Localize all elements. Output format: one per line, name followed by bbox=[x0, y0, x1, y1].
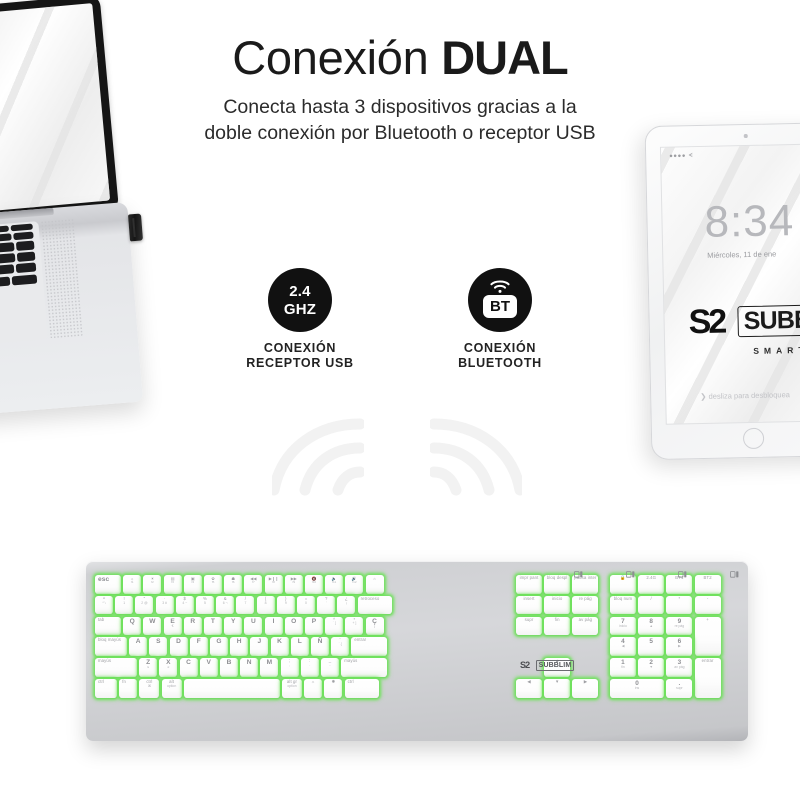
led-indicator-2 bbox=[626, 565, 635, 572]
laptop-screen-logo: LIM IGNS bbox=[0, 107, 14, 161]
badge-bt-caption-line1: CONEXIÓN bbox=[420, 341, 580, 356]
numpad-key[interactable]: 3av pág bbox=[666, 658, 692, 677]
keyboard-key[interactable]: Ç} bbox=[366, 617, 384, 636]
keyboard-key[interactable]: retroceso bbox=[358, 596, 392, 615]
laptop-key[interactable] bbox=[0, 253, 15, 263]
keyboard-key[interactable]: ✹ bbox=[324, 679, 342, 698]
laptop-keyboard bbox=[0, 221, 48, 359]
tablet-device: ●●●● ᗕ 8:34 Miércoles, 11 de ene S2 SUBB… bbox=[645, 122, 800, 460]
keyboard-key[interactable]: ctrl bbox=[95, 679, 117, 698]
tablet-brand-logo: S2 SUBB SMART D bbox=[688, 303, 800, 340]
keyboard-key[interactable]: ^` [ bbox=[325, 617, 343, 636]
keyboard-key[interactable]: mayús bbox=[95, 658, 137, 677]
keyboard-key[interactable]: F bbox=[190, 637, 208, 656]
keyboard-key[interactable]: N bbox=[240, 658, 258, 677]
numpad-key[interactable]: 7inicio bbox=[610, 617, 636, 636]
badge-bt-value: BT bbox=[483, 295, 517, 318]
keyboard-key[interactable]: B bbox=[220, 658, 238, 677]
keyboard-key[interactable]: T bbox=[204, 617, 222, 636]
keyboard-key[interactable]: tab bbox=[95, 617, 121, 636]
keyboard-key[interactable]: I bbox=[265, 617, 283, 636]
numpad-key[interactable]: * bbox=[666, 596, 692, 615]
keyboard-key[interactable]: *+ ] bbox=[345, 617, 363, 636]
keyboard-key[interactable]: W bbox=[143, 617, 161, 636]
tablet-lockscreen-time: 8:34 bbox=[704, 199, 795, 245]
keyboard-key[interactable]: ¨´ { bbox=[331, 637, 349, 656]
tablet-status-bar: ●●●● ᗕ bbox=[669, 153, 693, 161]
keyboard-key[interactable]: Ñ bbox=[311, 637, 329, 656]
keyboard-key[interactable]: U bbox=[244, 617, 262, 636]
keyboard-key[interactable]: 🔇f10 bbox=[305, 575, 323, 594]
laptop-key[interactable] bbox=[16, 240, 35, 250]
keyboard-key[interactable]: M bbox=[260, 658, 278, 677]
wifi-signal-decor-right bbox=[430, 418, 522, 503]
laptop-device: LIM IGNS bbox=[0, 18, 170, 528]
keyboard-key[interactable]: (8 bbox=[257, 596, 275, 615]
keyboard-key[interactable] bbox=[184, 679, 280, 698]
keyboard-key[interactable]: mayús bbox=[341, 658, 387, 677]
badge-usb-caption-line2: RECEPTOR USB bbox=[220, 356, 380, 371]
keyboard-key[interactable]: 🔊f12 bbox=[345, 575, 363, 594]
keyboard-key[interactable]: :. bbox=[301, 658, 319, 677]
laptop-key[interactable] bbox=[0, 242, 14, 252]
laptop-key[interactable] bbox=[10, 224, 33, 231]
keyboard-key[interactable]: D bbox=[170, 637, 188, 656]
keyboard-key[interactable]: ;, bbox=[281, 658, 299, 677]
keyboard-key[interactable]: bloq mayús bbox=[95, 637, 127, 656]
laptop-key[interactable] bbox=[0, 226, 9, 233]
keyboard-key[interactable]: ▶▶f9 bbox=[285, 575, 303, 594]
keyboard-key[interactable]: alt groption bbox=[282, 679, 302, 698]
badge-bluetooth: BT CONEXIÓN BLUETOOTH bbox=[420, 268, 580, 371]
wireless-keyboard: esc☼f1☀f2▤f3▣f4✿f5☗f6◀◀f7▶❙❙f8▶▶f9🔇f10🔈f… bbox=[86, 561, 748, 741]
keyboard-key[interactable]: ☼ bbox=[304, 679, 322, 698]
tablet-screen: ●●●● ᗕ 8:34 Miércoles, 11 de ene S2 SUBB… bbox=[660, 143, 800, 425]
keyboard-key[interactable]: bloq despl bbox=[544, 575, 570, 594]
numpad-key[interactable]: 2.4G bbox=[638, 575, 664, 594]
keyboard-key[interactable]: altoption bbox=[162, 679, 182, 698]
tablet-lockscreen-date: Miércoles, 11 de ene bbox=[707, 249, 776, 259]
keyboard-logo-box: SUBBLIM bbox=[536, 660, 575, 671]
keyboard-key[interactable]: X≥ bbox=[159, 658, 177, 677]
keyboard-key[interactable]: C bbox=[180, 658, 198, 677]
keyboard-key[interactable]: ?' bbox=[317, 596, 335, 615]
keyboard-key[interactable]: Q bbox=[123, 617, 141, 636]
numpad-key[interactable]: 1fin bbox=[610, 658, 636, 677]
badge-usb-receiver: 2.4 GHZ CONEXIÓN RECEPTOR USB bbox=[220, 268, 380, 371]
keyboard-key[interactable]: ▶❙❙f8 bbox=[265, 575, 283, 594]
keyboard-key[interactable]: S bbox=[149, 637, 167, 656]
laptop-lid: LIM IGNS bbox=[0, 0, 119, 233]
usb-receiver-dongle bbox=[128, 214, 143, 242]
keyboard-key[interactable]: E€ bbox=[164, 617, 182, 636]
keyboard-logo-mark: S2 bbox=[520, 661, 529, 670]
keyboard-key[interactable]: 🔈f11 bbox=[325, 575, 343, 594]
laptop-screen: LIM IGNS bbox=[0, 3, 110, 223]
badge-usb-caption-line1: CONEXIÓN bbox=[220, 341, 380, 356]
page-title-bold: DUAL bbox=[441, 31, 568, 84]
bluetooth-badge-icon: BT bbox=[468, 268, 532, 332]
keyboard-key[interactable]: "2 @ bbox=[135, 596, 153, 615]
keyboard-key[interactable]: fin bbox=[544, 617, 570, 636]
keyboard-key[interactable]: Z≤ bbox=[139, 658, 157, 677]
numpad-key[interactable]: 2▼ bbox=[638, 658, 664, 677]
keyboard-key[interactable]: =0 bbox=[297, 596, 315, 615]
keyboard-key[interactable]: entrar bbox=[351, 637, 387, 656]
keyboard-key[interactable]: &6 ¬ bbox=[216, 596, 234, 615]
keyboard-key[interactable]: K bbox=[271, 637, 289, 656]
keyboard-key[interactable]: fn bbox=[119, 679, 137, 698]
tablet-slide-to-unlock[interactable]: ❯ desliza para desbloquea bbox=[700, 390, 790, 401]
badge-usb-caption: CONEXIÓN RECEPTOR USB bbox=[220, 341, 380, 371]
keyboard-key[interactable]: P bbox=[305, 617, 323, 636]
keyboard-brand-logo: S2 SUBBLIM bbox=[520, 657, 574, 675]
wifi-24ghz-icon: 2.4 GHZ bbox=[268, 268, 332, 332]
tablet-home-button[interactable] bbox=[742, 428, 763, 449]
keyboard-led-indicators bbox=[86, 565, 748, 573]
numpad-key[interactable]: / bbox=[638, 596, 664, 615]
keyboard-keys: esc☼f1☀f2▤f3▣f4✿f5☗f6◀◀f7▶❙❙f8▶▶f9🔇f10🔈f… bbox=[86, 561, 748, 741]
led-indicator-3 bbox=[678, 565, 687, 572]
badge-usb-value: 2.4 bbox=[289, 283, 310, 300]
keyboard-key[interactable]: /7 bbox=[236, 596, 254, 615]
keyboard-key[interactable]: H bbox=[230, 637, 248, 656]
laptop-key[interactable] bbox=[16, 263, 37, 274]
keyboard-key[interactable]: ☼f1 bbox=[123, 575, 141, 594]
keyboard-key[interactable]: ⌂ bbox=[366, 575, 384, 594]
led-indicator-1 bbox=[574, 565, 583, 572]
tablet-camera-icon bbox=[744, 134, 748, 138]
tablet-logo-tagline: SMART D bbox=[753, 344, 800, 356]
keyboard-key[interactable]: ·3 # bbox=[156, 596, 174, 615]
keyboard-key[interactable]: !1 bbox=[115, 596, 133, 615]
keyboard-key[interactable]: inicio bbox=[544, 596, 570, 615]
keyboard-key[interactable]: %5 bbox=[196, 596, 214, 615]
keyboard-key[interactable]: ▣f4 bbox=[184, 575, 202, 594]
numpad-key[interactable]: 0ins bbox=[610, 679, 664, 698]
numpad-key[interactable]: 5 bbox=[638, 637, 664, 656]
keyboard-arrow-key[interactable]: ▶ bbox=[572, 679, 598, 698]
numpad-key[interactable]: - bbox=[695, 596, 721, 615]
numpad-key[interactable]: bloq num bbox=[610, 596, 636, 615]
keyboard-key[interactable]: _- bbox=[321, 658, 339, 677]
wifi-arc-icon bbox=[489, 279, 511, 294]
keyboard-key[interactable]: ◀◀f7 bbox=[244, 575, 262, 594]
keyboard-key[interactable]: A bbox=[129, 637, 147, 656]
page-title-light: Conexión bbox=[232, 31, 441, 84]
keyboard-key[interactable]: ✿f5 bbox=[204, 575, 222, 594]
numpad-key[interactable]: BT2 bbox=[695, 575, 721, 594]
laptop-key[interactable] bbox=[0, 265, 14, 276]
numpad-key[interactable]: entrar bbox=[695, 658, 721, 697]
keyboard-key[interactable]: av pág bbox=[572, 617, 598, 636]
numpad-key[interactable]: 9re pág bbox=[666, 617, 692, 636]
numpad-key[interactable]: 8▲ bbox=[638, 617, 664, 636]
keyboard-key[interactable]: $4 ~ bbox=[176, 596, 194, 615]
laptop-key[interactable] bbox=[17, 252, 36, 262]
badge-bt-caption: CONEXIÓN BLUETOOTH bbox=[420, 341, 580, 371]
keyboard-key[interactable]: J bbox=[250, 637, 268, 656]
laptop-screen-logo-tagline: IGNS bbox=[0, 138, 14, 161]
badge-bt-caption-line2: BLUETOOTH bbox=[420, 356, 580, 371]
keyboard-arrow-key[interactable]: ▼ bbox=[544, 679, 570, 698]
product-marketing-slide: Conexión DUAL Conecta hasta 3 dispositiv… bbox=[0, 0, 800, 800]
laptop-key[interactable] bbox=[0, 233, 12, 242]
wifi-signal-decor-left bbox=[272, 418, 364, 503]
laptop-key[interactable] bbox=[0, 276, 10, 287]
keyboard-key[interactable]: G bbox=[210, 637, 228, 656]
keyboard-key[interactable]: ctrl⌘ bbox=[139, 679, 159, 698]
keyboard-arrow-key[interactable]: ◀ bbox=[516, 679, 542, 698]
keyboard-key[interactable]: L bbox=[291, 637, 309, 656]
keyboard-key[interactable]: ctrl bbox=[345, 679, 379, 698]
keyboard-key[interactable]: esc bbox=[95, 575, 121, 594]
badge-usb-unit: GHZ bbox=[268, 302, 332, 317]
laptop-key[interactable] bbox=[13, 231, 33, 240]
laptop-speaker-grille bbox=[40, 218, 83, 338]
keyboard-key[interactable]: ªº \ bbox=[95, 596, 113, 615]
laptop-key[interactable] bbox=[12, 274, 38, 285]
numpad-key[interactable]: 6▶ bbox=[666, 637, 692, 656]
keyboard-key[interactable]: ¿¡ bbox=[337, 596, 355, 615]
keyboard-key[interactable]: ☗f6 bbox=[224, 575, 242, 594]
tablet-logo-box: SUBB bbox=[737, 304, 800, 337]
numpad-key[interactable]: 4◀ bbox=[610, 637, 636, 656]
keyboard-key[interactable]: ▤f3 bbox=[164, 575, 182, 594]
keyboard-key[interactable]: Y bbox=[224, 617, 242, 636]
keyboard-key[interactable]: )9 bbox=[277, 596, 295, 615]
led-indicator-4 bbox=[730, 565, 739, 572]
keyboard-key[interactable]: O bbox=[285, 617, 303, 636]
keyboard-key[interactable]: V bbox=[200, 658, 218, 677]
numpad-key[interactable]: .supr bbox=[666, 679, 692, 698]
laptop-base bbox=[0, 202, 143, 425]
keyboard-key[interactable]: re pág bbox=[572, 596, 598, 615]
keyboard-key[interactable]: ☀f2 bbox=[143, 575, 161, 594]
keyboard-key[interactable]: supr bbox=[516, 617, 542, 636]
keyboard-key[interactable]: insert bbox=[516, 596, 542, 615]
keyboard-key[interactable]: R bbox=[184, 617, 202, 636]
numpad-key[interactable]: + bbox=[695, 617, 721, 656]
tablet-logo-mark: S2 bbox=[688, 305, 724, 340]
keyboard-key[interactable]: impr pant bbox=[516, 575, 542, 594]
